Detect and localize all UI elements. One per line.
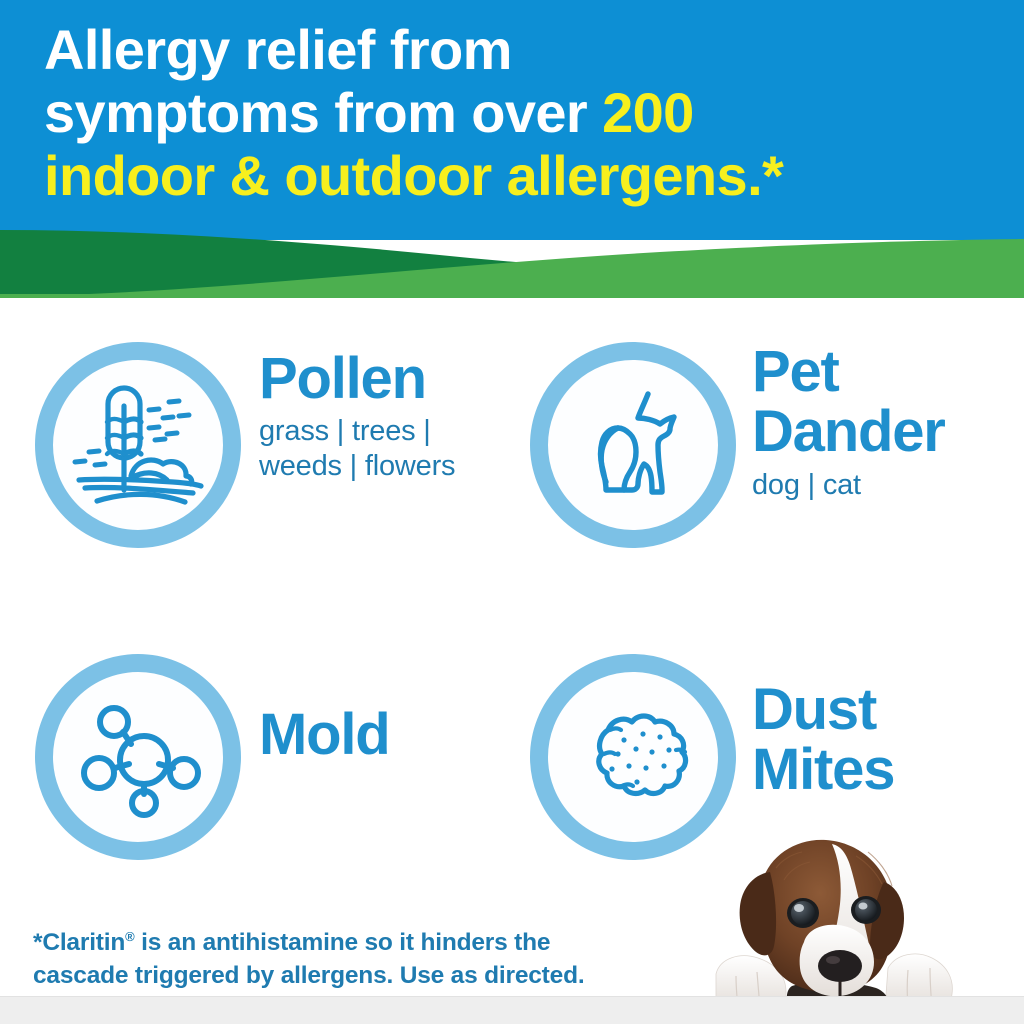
bottom-gray-strip [0, 996, 1024, 1024]
infographic-page: Allergy relief from symptoms from over 2… [0, 0, 1024, 1024]
mold-text-block: Mold [241, 654, 390, 764]
pet-dander-subtitle: dog | cat [752, 468, 945, 503]
dust-mites-text-block: Dust Mites [736, 654, 894, 800]
pollen-subtitle: grass | trees | weeds | flowers [259, 414, 455, 484]
headline-count-accent: 200 [602, 81, 694, 144]
puppy-nose [818, 950, 862, 982]
bottom-strip-divider [0, 996, 1024, 997]
headline-line-3-accent: indoor & outdoor allergens.* [44, 144, 783, 207]
dust-mites-title: Dust Mites [752, 680, 894, 800]
green-wave-svg [0, 222, 1024, 302]
allergen-card-pet-dander[interactable]: Pet Dander dog | cat [530, 342, 945, 548]
pollen-icon-ring [35, 342, 241, 548]
registered-trademark-icon: ® [125, 929, 134, 944]
dog-sitting-icon [548, 360, 718, 530]
footnote-disclaimer: *Claritin® is an antihistamine so it hin… [33, 926, 643, 992]
pollen-plant-icon [53, 360, 223, 530]
pollen-text-block: Pollen grass | trees | weeds | flowers [241, 342, 455, 484]
mold-icon-ring [35, 654, 241, 860]
allergen-grid: Pollen grass | trees | weeds | flowers [0, 296, 1024, 896]
puppy-resting-on-paws-photo [700, 822, 1024, 1022]
page-headline: Allergy relief from symptoms from over 2… [44, 18, 974, 207]
puppy-nose-highlight [826, 956, 840, 964]
headline-line-2-plain: symptoms from over [44, 81, 602, 144]
allergen-card-mold[interactable]: Mold [35, 654, 390, 860]
puppy-illustration [700, 822, 1024, 1022]
puppy-left-eye [787, 898, 819, 928]
pet-dander-icon-ring [530, 342, 736, 548]
pollen-title: Pollen [259, 350, 455, 408]
footnote-brand: *Claritin [33, 929, 125, 956]
pet-dander-title: Pet Dander [752, 342, 945, 462]
dust-mite-cluster-icon [548, 672, 718, 842]
pet-dander-text-block: Pet Dander dog | cat [736, 342, 945, 503]
mold-molecule-icon [53, 672, 223, 842]
puppy-right-eye [851, 896, 881, 924]
allergen-card-pollen[interactable]: Pollen grass | trees | weeds | flowers [35, 342, 455, 548]
puppy-left-ear [740, 872, 776, 955]
mold-title: Mold [259, 706, 390, 764]
headline-line-1: Allergy relief from [44, 18, 512, 81]
green-wave-divider [0, 222, 1024, 302]
